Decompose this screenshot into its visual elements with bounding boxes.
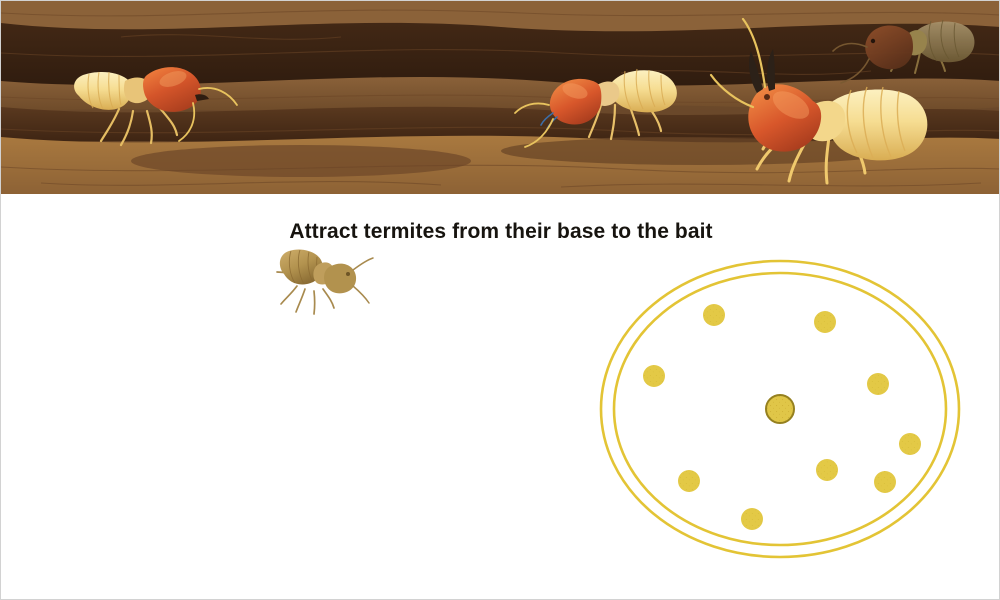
bait-station-8[interactable]	[678, 470, 700, 492]
center-bait-station[interactable]	[766, 395, 794, 423]
termite-soldier-eye	[764, 94, 770, 100]
walking-termite-antennae	[353, 258, 373, 303]
bait-station-3[interactable]	[643, 365, 665, 387]
bait-station-9[interactable]	[741, 508, 763, 530]
bait-station-diagram	[1, 194, 1000, 600]
tunnel-shadow-left	[131, 145, 471, 177]
termite-bait-infographic-card: Attract termites from their base to the …	[0, 0, 1000, 600]
termite-bg-eye	[871, 39, 875, 43]
bait-station-1[interactable]	[703, 304, 725, 326]
bait-station-2[interactable]	[814, 311, 836, 333]
bait-station-5[interactable]	[899, 433, 921, 455]
bait-station-6[interactable]	[816, 459, 838, 481]
termite-walking-to-bait	[277, 249, 373, 314]
termite-wood-tunnel-banner	[1, 1, 1000, 194]
bait-station-7[interactable]	[874, 471, 896, 493]
walking-termite-head	[324, 264, 356, 294]
walking-termite-eye	[346, 272, 350, 276]
bait-station-4[interactable]	[867, 373, 889, 395]
